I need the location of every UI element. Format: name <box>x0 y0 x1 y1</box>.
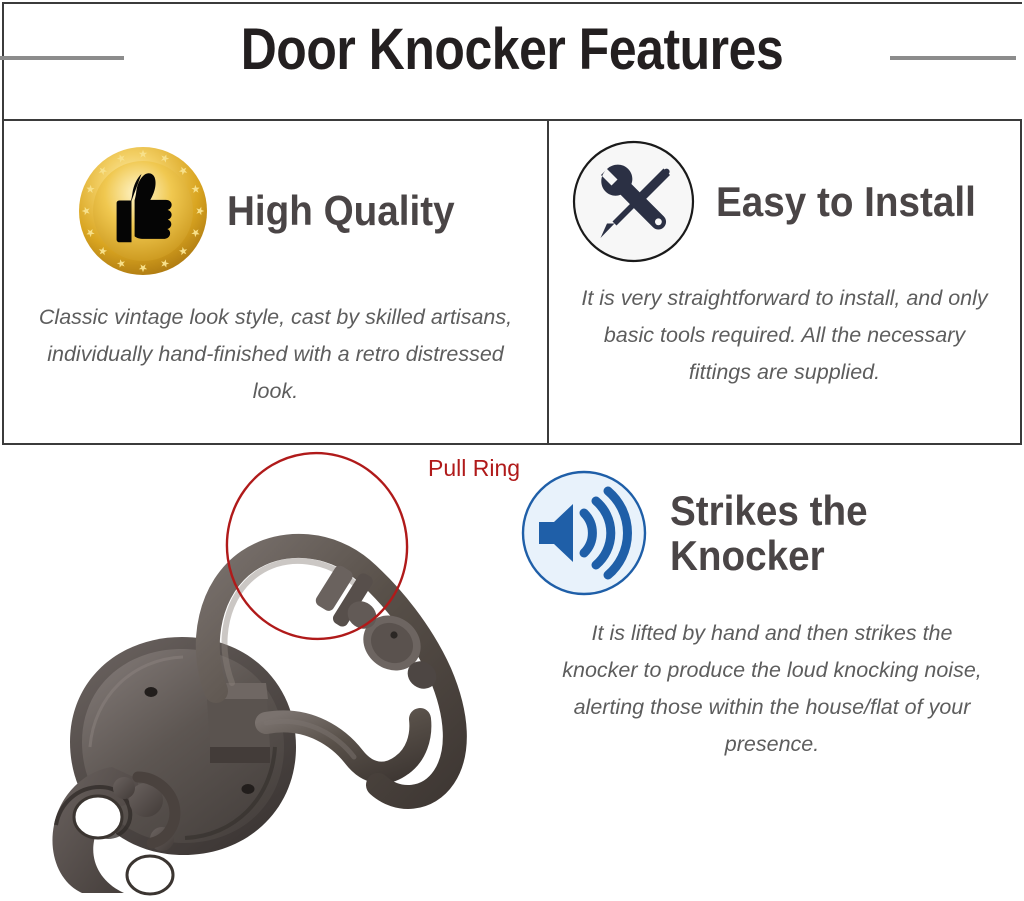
screw-hole-top <box>145 687 158 697</box>
product-photo-door-knocker: Pull Ring <box>20 447 520 896</box>
feature-header-high-quality: High Quality <box>4 121 547 277</box>
feature-title-strikes-the-knocker: Strikes the Knocker <box>670 488 996 579</box>
feature-header-easy-to-install: Easy to Install <box>549 121 1020 264</box>
pull-ring-label: Pull Ring <box>428 455 520 482</box>
thumbs-up-gold-coin-icon <box>77 145 209 277</box>
feature-panel-easy-to-install: Easy to Install It is very straightforwa… <box>549 121 1020 443</box>
wrench-screwdriver-icon <box>571 139 696 264</box>
feature-body-high-quality: Classic vintage look style, cast by skil… <box>37 299 515 410</box>
feature-panel-high-quality: High Quality Classic vintage look style,… <box>4 121 547 443</box>
door-knocker-illustration <box>20 447 520 896</box>
feature-body-easy-to-install: It is very straightforward to install, a… <box>573 280 997 391</box>
feature-body-strikes-the-knocker: It is lifted by hand and then strikes th… <box>557 615 987 763</box>
feature-header-strikes-the-knocker: Strikes the Knocker <box>520 447 1024 597</box>
screw-hole-bottom <box>242 784 255 794</box>
feature-title-easy-to-install: Easy to Install <box>716 179 976 224</box>
infographic-root: Door Knocker Features <box>0 0 1024 896</box>
page-title: Door Knocker Features <box>72 16 953 83</box>
feature-panel-strikes-the-knocker: Strikes the Knocker It is lifted by hand… <box>520 447 1024 894</box>
knocker-scrollwork-tail <box>52 767 174 894</box>
header: Door Knocker Features <box>0 0 1024 119</box>
frame-border-right-body <box>1020 121 1022 445</box>
speaker-sound-icon <box>520 469 648 597</box>
frame-divider-horizontal <box>2 443 1022 445</box>
feature-title-high-quality: High Quality <box>227 188 455 233</box>
